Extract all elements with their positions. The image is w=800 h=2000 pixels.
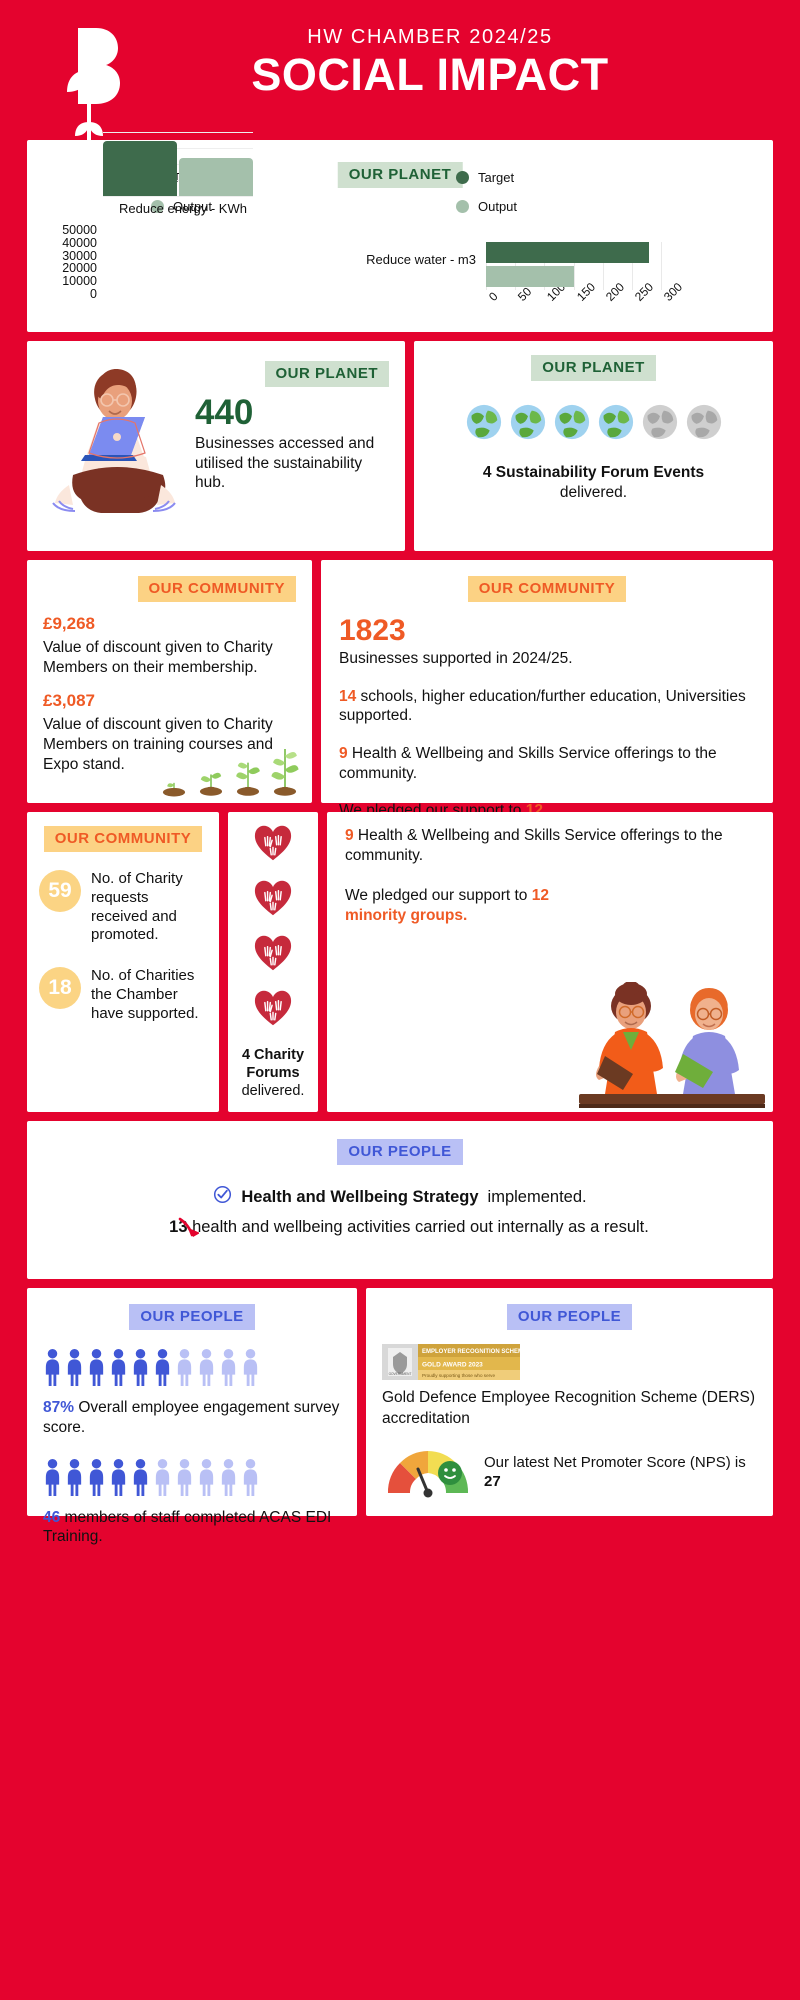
sustainability-hub-text: OUR PLANET 440 Businesses accessed and u… <box>191 355 389 537</box>
pledge-repeat: We pledged our support to 12 minority gr… <box>345 886 560 926</box>
bar-energy-output <box>179 158 253 196</box>
schools-stat-text: schools, higher education/further educat… <box>339 688 746 725</box>
legend-item-target: Target <box>456 170 517 185</box>
tag-our-community-discounts: OUR COMMUNITY <box>138 576 297 602</box>
charity-forums-rest: delivered. <box>242 1083 305 1099</box>
charity-forums-card: 4 Charity Forums delivered. <box>228 812 318 1112</box>
defence-employer-recognition-badge-icon: GOVERNMENT EMPLOYER RECOGNITION SCHEME G… <box>382 1344 520 1380</box>
y-tick: 0 <box>41 288 97 301</box>
people-bottom-row: OUR PEOPLE 87% Overall employee engageme… <box>0 1288 800 1516</box>
person-figure-icon <box>65 1348 84 1391</box>
chart-legend-right: Target Output <box>456 170 517 228</box>
charity-row: OUR COMMUNITY 59 No. of Charity requests… <box>0 812 800 1112</box>
person-figure-icon <box>197 1458 216 1501</box>
heart-hands-icon <box>253 824 293 867</box>
community-row: OUR COMMUNITY £9,268 Value of discount g… <box>0 560 800 803</box>
water-chart-plot <box>486 242 661 290</box>
person-figure-icon <box>153 1458 172 1501</box>
two-women-illustration <box>569 982 769 1112</box>
header: HW CHAMBER 2024/25 SOCIAL IMPACT <box>0 0 800 140</box>
person-figure-icon <box>153 1348 172 1391</box>
acas-stat: 46 members of staff completed ACAS EDI T… <box>43 1508 341 1547</box>
bar-water-target <box>486 242 649 263</box>
globe-icon <box>509 403 547 441</box>
nps-gauge-icon <box>382 1439 474 1506</box>
discount-text-1: Value of discount given to Charity Membe… <box>43 638 296 677</box>
wellbeing-text: Health & Wellbeing and Skills Service of… <box>345 827 723 864</box>
person-figure-icon <box>109 1458 128 1501</box>
y-tick: 10000 <box>41 275 97 288</box>
globe-grey-icon <box>641 403 679 441</box>
person-figure-icon <box>197 1348 216 1391</box>
x-tick: 300 <box>661 280 685 304</box>
activities-text: health and wellbeing activities carried … <box>188 1218 649 1236</box>
globe-icon <box>597 403 635 441</box>
discount-amount-1: £9,268 <box>43 614 296 634</box>
nps-value: 27 <box>484 1473 501 1490</box>
tag-our-people-awards: OUR PEOPLE <box>507 1304 632 1330</box>
water-chart-category-label: Reduce water - m3 <box>296 252 476 267</box>
sustainability-forum-card: OUR PLANET 4 Sustainability Forum Events… <box>414 341 773 551</box>
person-figure-icon <box>241 1458 260 1501</box>
engagement-percent: 87% <box>43 1399 74 1416</box>
check-circle-icon <box>213 1185 232 1209</box>
forum-text-bold: 4 Sustainability Forum Events <box>483 464 704 481</box>
energy-chart-plot <box>103 132 253 196</box>
tag-our-planet-forum: OUR PLANET <box>531 355 656 381</box>
person-figure-icon <box>43 1348 62 1391</box>
tag-our-community-charity: OUR COMMUNITY <box>44 826 203 852</box>
nps-text: Our latest Net Promoter Score (NPS) is 2… <box>484 1453 757 1491</box>
charity-requests-count: 59 <box>39 870 81 912</box>
engagement-stat: 87% Overall employee engagement survey s… <box>43 1398 341 1437</box>
person-figure-icon <box>175 1348 194 1391</box>
heart-hands-icon-column <box>234 824 312 1032</box>
charity-forums-text: 4 Charity Forums delivered. <box>234 1046 312 1100</box>
person-with-laptop-illustration <box>43 355 191 537</box>
energy-chart-xlabel: Reduce energy - KWh <box>103 201 263 216</box>
person-figure-row-1 <box>43 1348 341 1391</box>
infographic-page: HW CHAMBER 2024/25 SOCIAL IMPACT OUR PLA… <box>0 0 800 2000</box>
community-support-continued-card: 9 Health & Wellbeing and Skills Service … <box>327 812 773 1112</box>
planet-row: OUR PLANET 440 Businesses accessed and u… <box>0 341 800 551</box>
person-figure-icon <box>241 1348 260 1391</box>
person-figure-icon <box>65 1458 84 1501</box>
nps-text-pre: Our latest Net Promoter Score (NPS) is <box>484 1454 746 1471</box>
awards-card: OUR PEOPLE GOVERNMENT EMPLOYER RECOGNITI… <box>366 1288 773 1516</box>
svg-text:GOVERNMENT: GOVERNMENT <box>389 1372 412 1376</box>
hub-description: Businesses accessed and utilised the sus… <box>195 434 389 493</box>
wellbeing-stat-text: Health & Wellbeing and Skills Service of… <box>339 745 717 782</box>
tag-our-people-strategy: OUR PEOPLE <box>337 1139 462 1165</box>
legend-label-target: Target <box>478 170 514 185</box>
person-figure-icon <box>219 1458 238 1501</box>
globe-icon-row <box>430 403 757 441</box>
legend-dot-output-icon <box>456 200 469 213</box>
chart-row: OUR PLANET Target Output Target <box>0 140 800 332</box>
tag-our-planet-chart: OUR PLANET <box>338 162 463 188</box>
legend-label-output: Output <box>478 199 517 214</box>
globe-grey-icon <box>685 403 723 441</box>
strategy-bold: Health and Wellbeing Strategy <box>241 1188 478 1207</box>
schools-stat: 14 schools, higher education/further edu… <box>339 687 755 726</box>
wellbeing-number: 9 <box>345 827 354 844</box>
hub-number: 440 <box>195 395 389 430</box>
globe-icon <box>553 403 591 441</box>
charity-requests-card: OUR COMMUNITY 59 No. of Charity requests… <box>27 812 219 1112</box>
page-title: SOCIAL IMPACT <box>60 51 800 100</box>
globe-icon <box>465 403 503 441</box>
person-figure-icon <box>43 1458 62 1501</box>
businesses-supported-card: OUR COMMUNITY 1823 Businesses supported … <box>321 560 773 803</box>
y-tick: 50000 <box>41 224 97 237</box>
charity-forums-bold: 4 Charity Forums <box>242 1047 304 1081</box>
ders-accreditation-text: Gold Defence Employee Recognition Scheme… <box>382 1388 757 1428</box>
badge-line-3: Proudly supporting those who serve <box>422 1373 495 1378</box>
growing-sprouts-illustration <box>157 735 302 797</box>
person-figure-icon <box>87 1458 106 1501</box>
x-tick: 0 <box>486 289 501 304</box>
heart-hands-icon <box>253 879 293 922</box>
forum-text-rest: delivered. <box>560 484 627 501</box>
wellbeing-stat-repeat: 9 Health & Wellbeing and Skills Service … <box>345 826 755 866</box>
charity-stat-1: 59 No. of Charity requests received and … <box>39 870 207 945</box>
forum-text: 4 Sustainability Forum Events delivered. <box>430 463 757 503</box>
person-figure-icon <box>219 1348 238 1391</box>
header-kicker: HW CHAMBER 2024/25 <box>60 26 800 49</box>
leaf-b-logo-icon <box>44 22 136 150</box>
wellbeing-stat: 9 Health & Wellbeing and Skills Service … <box>339 744 755 783</box>
charity-requests-text: No. of Charity requests received and pro… <box>91 870 207 945</box>
tag-our-planet-hub: OUR PLANET <box>265 361 390 387</box>
engagement-text: Overall employee engagement survey score… <box>43 1399 339 1436</box>
water-chart-xaxis: 050100150200250300 <box>486 294 661 322</box>
charities-supported-count: 18 <box>39 967 81 1009</box>
energy-chart-yaxis: 50000400003000020000100000 <box>41 224 97 301</box>
discount-amount-2: £3,087 <box>43 691 296 711</box>
acas-count: 46 <box>43 1509 60 1526</box>
planet-chart-card: OUR PLANET Target Output Target <box>27 140 773 332</box>
person-figure-icon <box>131 1458 150 1501</box>
strategy-line-2: 13 health and wellbeing activities carri… <box>47 1217 753 1238</box>
acas-text: members of staff completed ACAS EDI Trai… <box>43 1509 331 1546</box>
people-strategy-card: OUR PEOPLE Health and Wellbeing Strategy… <box>27 1121 773 1279</box>
person-figure-icon <box>131 1348 150 1391</box>
bar-energy-target <box>103 141 177 196</box>
sustainability-hub-card: OUR PLANET 440 Businesses accessed and u… <box>27 341 405 551</box>
nps-block: Our latest Net Promoter Score (NPS) is 2… <box>382 1439 757 1506</box>
bar-water-output <box>486 266 574 287</box>
charity-discounts-card: OUR COMMUNITY £9,268 Value of discount g… <box>27 560 312 803</box>
tag-our-people-engagement: OUR PEOPLE <box>129 1304 254 1330</box>
person-figure-row-2 <box>43 1458 341 1501</box>
badge-line-2: GOLD AWARD 2023 <box>422 1362 483 1369</box>
employee-engagement-card: OUR PEOPLE 87% Overall employee engageme… <box>27 1288 357 1516</box>
wellbeing-stat-number: 9 <box>339 745 348 762</box>
person-figure-icon <box>87 1348 106 1391</box>
person-figure-icon <box>109 1348 128 1391</box>
businesses-number: 1823 <box>339 616 755 646</box>
pledge-pre: We pledged our support to <box>345 887 532 904</box>
curved-arrow-icon <box>177 1217 199 1247</box>
charities-supported-text: No. of Charities the Chamber have suppor… <box>91 967 207 1023</box>
heart-hands-icon <box>253 989 293 1032</box>
tag-our-community-support: OUR COMMUNITY <box>468 576 627 602</box>
strategy-rest: implemented. <box>488 1188 587 1207</box>
businesses-number-text: Businesses supported in 2024/25. <box>339 649 755 669</box>
charity-stat-2: 18 No. of Charities the Chamber have sup… <box>39 967 207 1023</box>
legend-item-output: Output <box>456 199 517 214</box>
y-tick: 40000 <box>41 237 97 250</box>
strategy-line-1: Health and Wellbeing Strategy implemente… <box>47 1185 753 1209</box>
person-figure-icon <box>175 1458 194 1501</box>
people-strategy-row: OUR PEOPLE Health and Wellbeing Strategy… <box>0 1121 800 1279</box>
heart-hands-icon <box>253 934 293 977</box>
legend-dot-target-icon <box>456 171 469 184</box>
badge-line-1: EMPLOYER RECOGNITION SCHEME <box>422 1349 520 1355</box>
schools-stat-number: 14 <box>339 688 356 705</box>
